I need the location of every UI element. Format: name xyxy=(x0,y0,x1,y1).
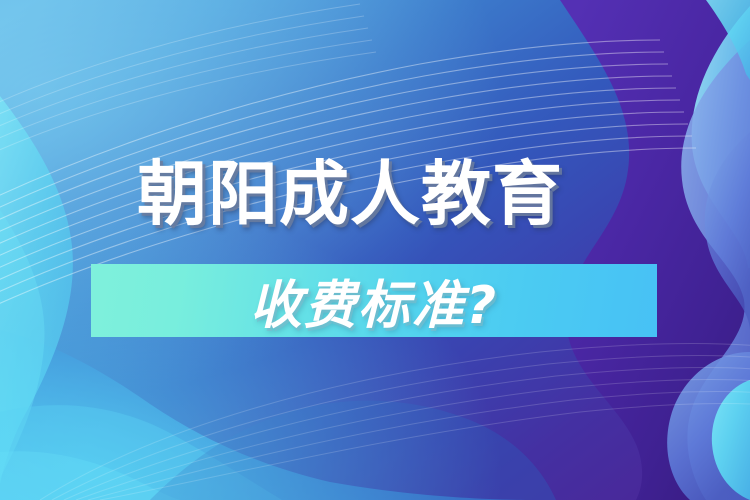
promo-banner: 朝阳成人教育 收费标准? xyxy=(0,0,750,500)
banner-text-stack: 朝阳成人教育 收费标准? xyxy=(0,0,750,500)
banner-main-title: 朝阳成人教育 xyxy=(137,152,627,236)
banner-subtitle: 收费标准? xyxy=(91,264,657,337)
